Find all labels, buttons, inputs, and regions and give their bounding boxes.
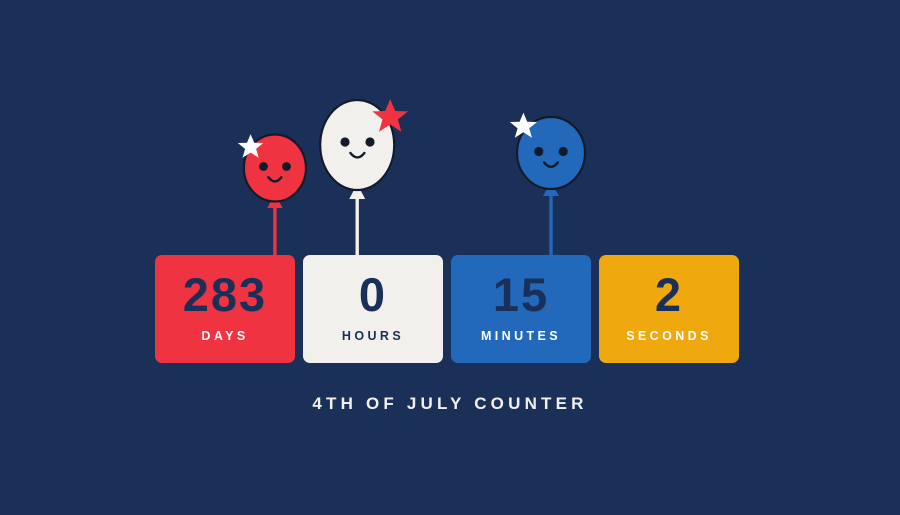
days-value: 283 [183,271,267,318]
white-balloon-right-eye [365,137,374,146]
red-balloon-left-eye [259,162,268,171]
red-balloon-star [238,134,264,158]
hours-label: HOURS [342,330,404,343]
countdown-card-days: 283 DAYS [155,255,295,363]
days-label: DAYS [201,330,248,343]
countdown-cards: 283 DAYS 0 HOURS 15 MINUTES 2 SECONDS [155,255,745,363]
page-title: 4TH OF JULY COUNTER [0,394,900,414]
blue-balloon-star [510,113,537,138]
white-balloon-string [356,196,359,261]
minutes-label: MINUTES [481,330,561,343]
white-balloon-body [320,100,394,190]
blue-balloon-knot [543,182,559,196]
countdown-card-seconds: 2 SECONDS [599,255,739,363]
seconds-label: SECONDS [626,330,712,343]
red-balloon-knot [267,194,282,208]
blue-balloon-smile [544,163,558,167]
blue-balloon-string [549,192,552,260]
countdown-card-hours: 0 HOURS [303,255,443,363]
red-balloon-smile [268,177,281,181]
balloon-decorations [0,0,900,270]
blue-balloon [506,110,598,260]
red-balloon-right-eye [282,162,291,171]
red-balloon [236,128,316,268]
white-balloon-smile [350,153,364,157]
white-balloon-knot [349,184,365,199]
minutes-value: 15 [493,271,549,318]
blue-balloon-body [517,117,585,189]
countdown-card-minutes: 15 MINUTES [451,255,591,363]
white-balloon-star [372,99,408,132]
seconds-value: 2 [655,271,683,318]
white-balloon-left-eye [340,137,349,146]
hours-value: 0 [359,271,387,318]
white-balloon [312,96,412,261]
blue-balloon-right-eye [559,147,568,156]
blue-balloon-left-eye [534,147,543,156]
countdown-app: 283 DAYS 0 HOURS 15 MINUTES 2 SECONDS 4T… [0,0,900,515]
red-balloon-body [244,135,306,202]
